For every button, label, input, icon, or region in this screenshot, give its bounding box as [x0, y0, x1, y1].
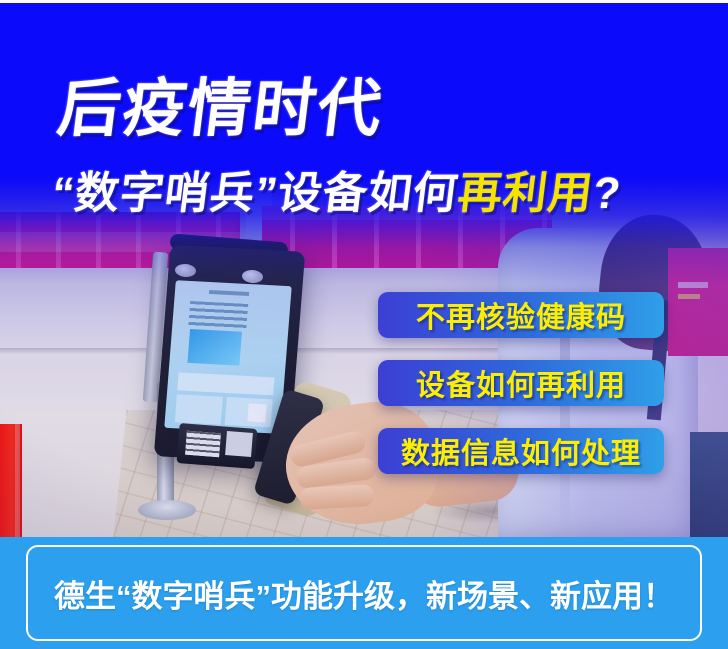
bottom-banner: 德生“数字哨兵”功能升级，新场景、新应用！ [0, 537, 728, 649]
poster-root: 后疫情时代 “数字哨兵”设备如何再利用? 不再核验健康码 设备如何再利用 数据信… [0, 0, 728, 649]
headline-line-2-prefix: “数字哨兵”设备如何 [49, 169, 461, 218]
pill-label-3: 数据信息如何处理 [401, 430, 641, 472]
headline-line-2: “数字哨兵”设备如何再利用? [49, 172, 623, 216]
bottom-banner-text: 德生“数字哨兵”功能升级，新场景、新应用！ [54, 571, 674, 616]
pill-item-device-reuse[interactable]: 设备如何再利用 [378, 360, 664, 406]
headline-line-1: 后疫情时代 [54, 78, 387, 141]
headline-line-2-suffix: ? [590, 169, 624, 218]
pill-item-data-handling[interactable]: 数据信息如何处理 [378, 428, 664, 474]
pill-item-health-code[interactable]: 不再核验健康码 [378, 292, 664, 338]
headline-accent-text: 再利用 [455, 169, 596, 218]
bottom-banner-frame: 德生“数字哨兵”功能升级，新场景、新应用！ [26, 545, 702, 641]
pill-label-2: 设备如何再利用 [416, 362, 626, 404]
pill-label-1: 不再核验健康码 [416, 294, 626, 336]
top-white-edge [0, 0, 728, 3]
